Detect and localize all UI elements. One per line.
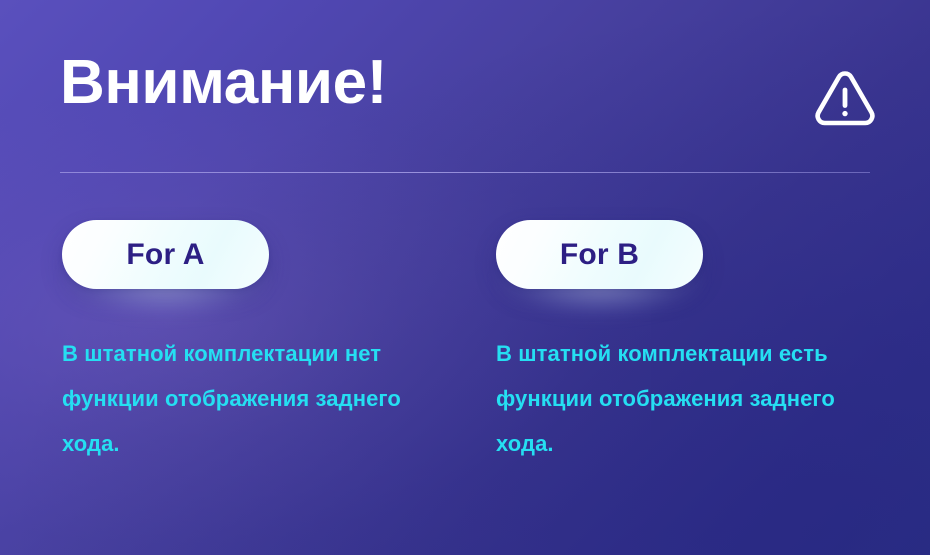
pill-wrapper-a: For A [62, 220, 269, 289]
warning-slide: Внимание! For A В штатной комплектации н… [0, 0, 930, 555]
option-column-b: For B В штатной комплектации есть функци… [496, 220, 891, 466]
for-b-button-label: For B [560, 240, 639, 270]
for-a-button-label: For A [126, 240, 204, 270]
for-a-button[interactable]: For A [62, 220, 269, 289]
pill-wrapper-b: For B [496, 220, 703, 289]
option-column-a: For A В штатной комплектации нет функции… [62, 220, 457, 466]
warning-triangle-icon [812, 64, 878, 130]
option-b-description: В штатной комплектации есть функции отоб… [496, 289, 886, 466]
header-divider [60, 172, 870, 173]
for-b-button[interactable]: For B [496, 220, 703, 289]
page-title: Внимание! [60, 52, 387, 114]
option-a-description: В штатной комплектации нет функции отобр… [62, 289, 447, 466]
